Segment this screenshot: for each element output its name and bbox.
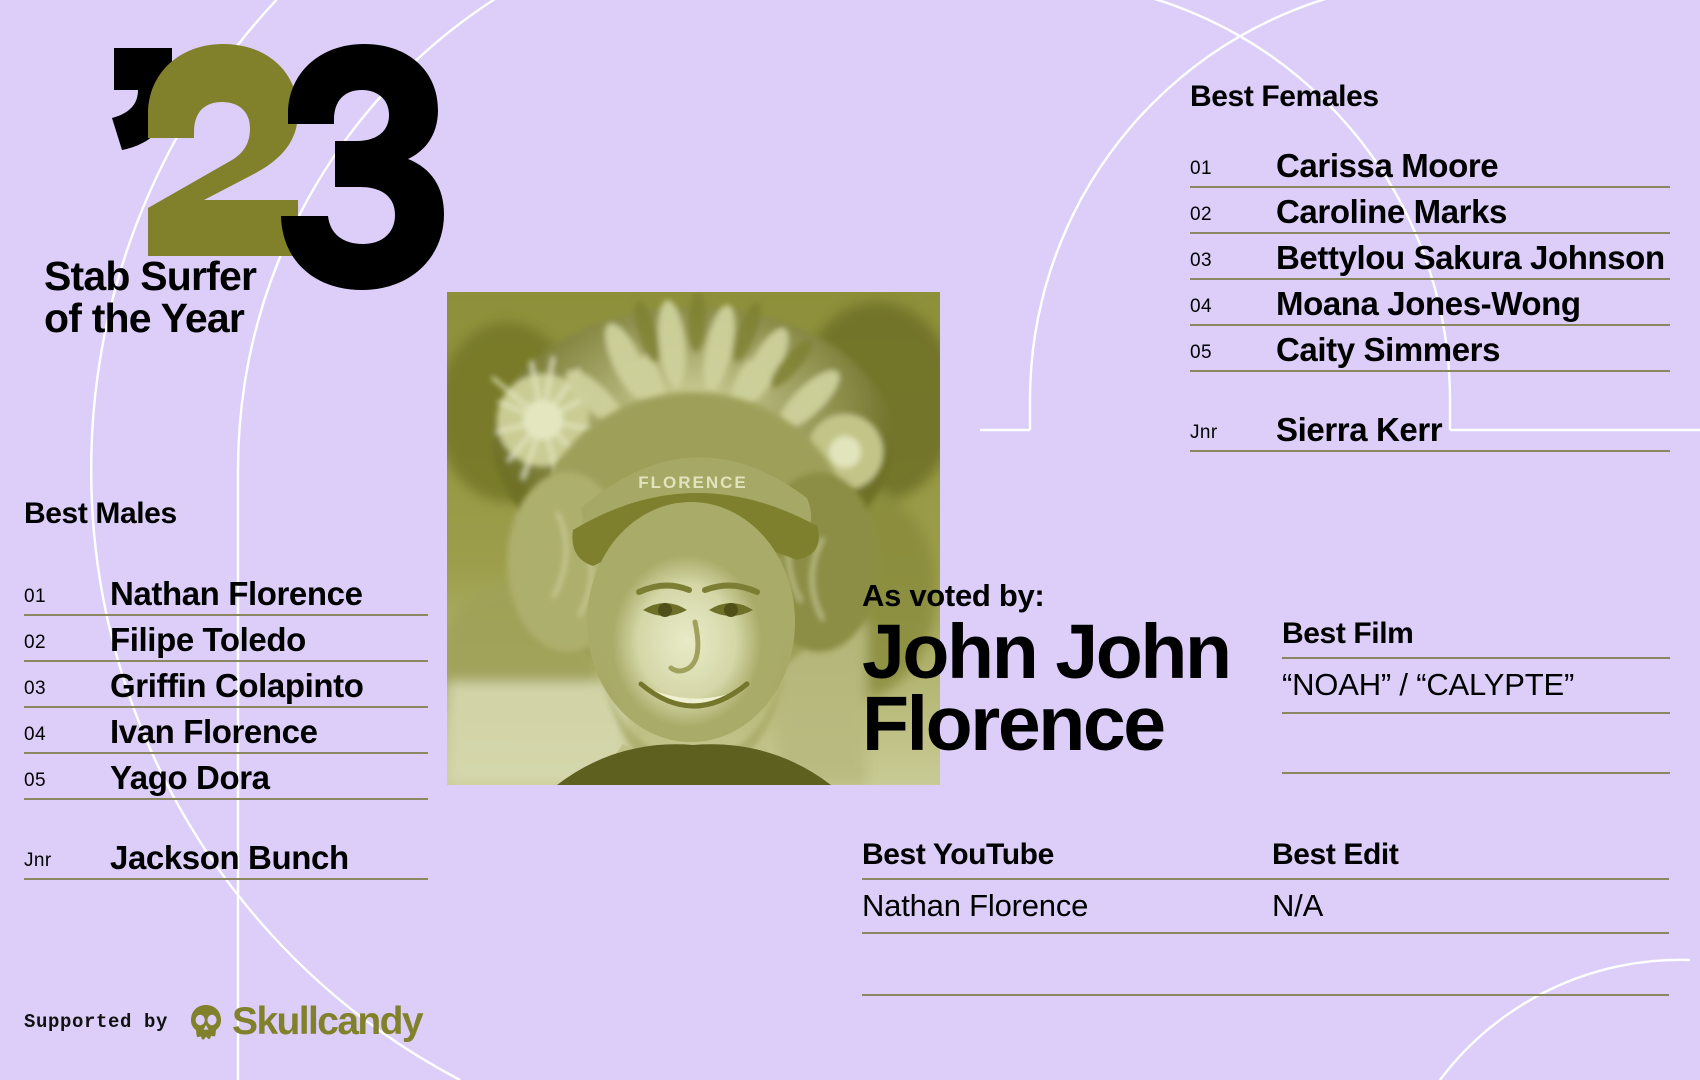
best-males-heading: Best Males [24, 497, 177, 531]
rank-number: 04 [1190, 296, 1276, 324]
table-row[interactable]: 03 Bettylou Sakura Johnson [1190, 234, 1670, 280]
poster-root: Stab Surfer of the Year Best Males 01 Na… [0, 0, 1700, 1080]
best-film-blank-row [1282, 714, 1670, 774]
divider [862, 994, 1669, 996]
best-edit-value[interactable]: N/A [1272, 880, 1669, 932]
best-females-heading: Best Females [1190, 80, 1379, 114]
skullcandy-logo[interactable]: Skullcandy [186, 1000, 422, 1044]
table-row[interactable]: 05 Caity Simmers [1190, 326, 1670, 372]
skullcandy-wordmark: Skullcandy [232, 1000, 422, 1044]
table-row[interactable]: 01 Carissa Moore [1190, 142, 1670, 188]
surfer-name: Jackson Bunch [110, 839, 349, 878]
table-row[interactable]: 04 Moana Jones-Wong [1190, 280, 1670, 326]
table-row-junior[interactable]: Jnr Sierra Kerr [1190, 406, 1670, 452]
list-spacer [1190, 372, 1670, 406]
logo-block: Stab Surfer of the Year [22, 40, 462, 330]
awards-blank-row [862, 934, 1669, 994]
rank-number: Jnr [1190, 422, 1276, 450]
surfer-name: Caroline Marks [1276, 193, 1507, 232]
list-spacer [24, 800, 428, 834]
rank-number: 05 [1190, 342, 1276, 370]
best-film-block: Best Film “NOAH” / “CALYPTE” [1282, 617, 1670, 774]
surfer-name: Moana Jones-Wong [1276, 285, 1581, 324]
surfer-name: Caity Simmers [1276, 331, 1500, 370]
table-row[interactable]: 01 Nathan Florence [24, 570, 428, 616]
best-edit-heading: Best Edit [1272, 838, 1669, 878]
rank-number: 04 [24, 724, 110, 752]
table-row[interactable]: 05 Yago Dora [24, 754, 428, 800]
awards-value-row: Nathan Florence N/A [862, 880, 1669, 932]
poster-title: Stab Surfer of the Year [44, 255, 256, 339]
rank-number: 02 [24, 632, 110, 660]
surfer-name: Nathan Florence [110, 575, 363, 614]
rank-number: 03 [1190, 250, 1276, 278]
surfer-name: Yago Dora [110, 759, 270, 798]
table-row[interactable]: 02 Filipe Toledo [24, 616, 428, 662]
surfer-name: Sierra Kerr [1276, 411, 1442, 450]
best-film-value[interactable]: “NOAH” / “CALYPTE” [1282, 659, 1670, 714]
surfer-name: Griffin Colapinto [110, 667, 364, 706]
rank-number: 05 [24, 770, 110, 798]
surfer-name: Ivan Florence [110, 713, 318, 752]
rank-number: 02 [1190, 204, 1276, 232]
rank-number: 01 [24, 586, 110, 614]
surfer-name: Filipe Toledo [110, 621, 306, 660]
awards-two-column: Best YouTube Best Edit Nathan Florence N… [862, 838, 1669, 996]
voted-by-name: John John Florence [862, 617, 1230, 760]
best-youtube-value[interactable]: Nathan Florence [862, 880, 1272, 932]
table-row-junior[interactable]: Jnr Jackson Bunch [24, 834, 428, 880]
best-females-list: 01 Carissa Moore 02 Caroline Marks 03 Be… [1190, 142, 1670, 452]
awards-heading-row: Best YouTube Best Edit [862, 838, 1669, 878]
skull-icon [186, 1002, 226, 1042]
best-males-list: 01 Nathan Florence 02 Filipe Toledo 03 G… [24, 570, 428, 880]
rank-number: 03 [24, 678, 110, 706]
surfer-name: Carissa Moore [1276, 147, 1498, 186]
best-film-heading: Best Film [1282, 617, 1670, 659]
table-row[interactable]: 04 Ivan Florence [24, 708, 428, 754]
table-row[interactable]: 03 Griffin Colapinto [24, 662, 428, 708]
rank-number: Jnr [24, 850, 110, 878]
svg-text:FLORENCE: FLORENCE [638, 473, 748, 492]
rank-number: 01 [1190, 158, 1276, 186]
table-row[interactable]: 02 Caroline Marks [1190, 188, 1670, 234]
sponsor-footer: Supported by Skullcandy [24, 1000, 422, 1044]
surfer-name: Bettylou Sakura Johnson [1276, 239, 1665, 278]
best-youtube-heading: Best YouTube [862, 838, 1272, 878]
supported-by-label: Supported by [24, 1011, 168, 1033]
